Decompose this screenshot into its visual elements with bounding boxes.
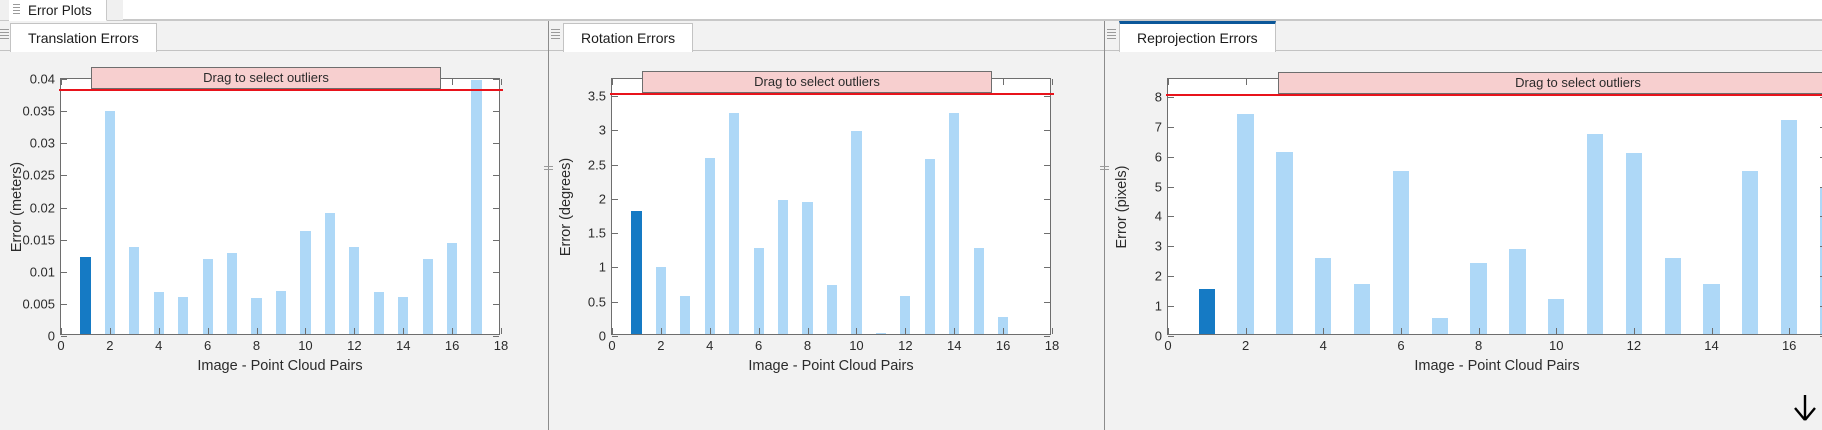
y-tick-right-rotation-3 (1044, 233, 1050, 234)
y-tick-label-translation-5: 0.025 (22, 168, 55, 183)
panel-divider-handle-3[interactable] (1100, 166, 1109, 172)
x-tick-rotation-0 (612, 328, 613, 334)
bar-reprojection-12[interactable] (1626, 153, 1642, 334)
outlier-drag-band-label-translation: Drag to select outliers (203, 70, 329, 85)
y-tick-label-translation-8: 0.04 (30, 72, 55, 87)
y-tick-label-rotation-5: 2.5 (588, 157, 606, 172)
bar-translation-3[interactable] (129, 247, 139, 334)
x-tick-label-rotation-6: 12 (898, 338, 912, 353)
x-tick-top-rotation-8 (1003, 79, 1004, 85)
bar-reprojection-1[interactable] (1199, 289, 1215, 334)
bar-rotation-6[interactable] (754, 248, 764, 334)
bar-reprojection-8[interactable] (1470, 263, 1486, 334)
x-tick-label-rotation-4: 8 (804, 338, 811, 353)
axes-translation: 00.0050.010.0150.020.0250.030.0350.04024… (60, 78, 500, 335)
x-tick-label-reprojection-3: 6 (1397, 338, 1404, 353)
bar-rotation-14[interactable] (949, 113, 959, 334)
y-tick-label-reprojection-8: 8 (1155, 89, 1162, 104)
axes-reprojection: 0123456780246810121416Image - Point Clou… (1167, 78, 1822, 335)
plots-container: Translation Errors 00.0050.010.0150.020.… (0, 21, 1822, 430)
x-tick-top-rotation-9 (1052, 79, 1053, 85)
bar-rotation-5[interactable] (729, 113, 739, 334)
panel-divider-handle-2[interactable] (544, 166, 553, 172)
bar-rotation-3[interactable] (680, 296, 690, 334)
outlier-threshold-line-rotation[interactable] (610, 93, 1054, 95)
plot-area-rotation: 00.511.522.533.5024681012141618Image - P… (611, 78, 1051, 335)
y-tick-rotation-1 (612, 302, 618, 303)
bar-rotation-7[interactable] (778, 200, 788, 334)
y-tick-label-translation-1: 0.005 (22, 296, 55, 311)
y-axis-title-reprojection: Error (pixels) (1114, 165, 1130, 248)
y-tick-right-rotation-2 (1044, 267, 1050, 268)
x-tick-rotation-7 (954, 328, 955, 334)
panel-grip-icon-2[interactable] (551, 29, 560, 42)
bar-reprojection-3[interactable] (1276, 152, 1292, 334)
x-tick-rotation-1 (661, 328, 662, 334)
x-tick-top-translation-9 (501, 79, 502, 85)
x-tick-label-translation-9: 18 (494, 338, 508, 353)
x-tick-label-rotation-9: 18 (1045, 338, 1059, 353)
bar-rotation-8[interactable] (802, 202, 812, 334)
y-tick-label-reprojection-0: 0 (1155, 329, 1162, 344)
bar-reprojection-15[interactable] (1742, 171, 1758, 334)
y-tick-label-translation-0: 0 (48, 329, 55, 344)
bar-translation-17[interactable] (471, 80, 481, 334)
x-tick-rotation-3 (759, 328, 760, 334)
y-tick-right-translation-1 (493, 304, 499, 305)
y-tick-right-rotation-7 (1044, 96, 1050, 97)
x-tick-reprojection-3 (1401, 328, 1402, 334)
x-axis-title-rotation: Image - Point Cloud Pairs (748, 358, 913, 374)
x-tick-translation-6 (354, 328, 355, 334)
x-tick-reprojection-6 (1634, 328, 1635, 334)
x-tick-reprojection-7 (1712, 328, 1713, 334)
y-tick-reprojection-1 (1168, 306, 1174, 307)
y-tick-label-rotation-1: 0.5 (588, 294, 606, 309)
x-tick-reprojection-0 (1168, 328, 1169, 334)
panel-rotation-errors: Rotation Errors 00.511.522.533.502468101… (549, 21, 1104, 430)
bar-rotation-1[interactable] (631, 211, 641, 334)
x-tick-rotation-2 (710, 328, 711, 334)
bar-translation-16[interactable] (447, 243, 457, 334)
bar-rotation-15[interactable] (974, 248, 984, 334)
resize-arrow-cursor (1792, 394, 1818, 424)
tab-reprojection-errors[interactable]: Reprojection Errors (1119, 21, 1276, 52)
x-tick-label-translation-1: 2 (106, 338, 113, 353)
y-tick-label-rotation-7: 3.5 (588, 89, 606, 104)
bar-translation-10[interactable] (300, 231, 310, 334)
x-axis-title-translation: Image - Point Cloud Pairs (197, 358, 362, 374)
bar-reprojection-2[interactable] (1237, 114, 1253, 334)
y-axis-title-rotation: Error (degrees) (558, 157, 574, 255)
bar-reprojection-6[interactable] (1393, 171, 1409, 334)
y-tick-label-translation-3: 0.015 (22, 232, 55, 247)
outlier-drag-band-rotation[interactable]: Drag to select outliers (642, 71, 992, 93)
x-tick-reprojection-1 (1246, 328, 1247, 334)
x-tick-label-reprojection-6: 12 (1627, 338, 1641, 353)
x-tick-label-translation-4: 8 (253, 338, 260, 353)
y-tick-rotation-6 (612, 130, 618, 131)
y-tick-reprojection-0 (1168, 336, 1174, 337)
bar-translation-7[interactable] (227, 253, 237, 334)
y-tick-rotation-5 (612, 165, 618, 166)
x-tick-label-reprojection-8: 16 (1782, 338, 1796, 353)
y-tick-translation-0 (61, 336, 67, 337)
y-tick-right-translation-5 (493, 175, 499, 176)
bar-translation-11[interactable] (325, 213, 335, 334)
y-tick-reprojection-4 (1168, 216, 1174, 217)
outlier-drag-band-label-reprojection: Drag to select outliers (1515, 75, 1641, 90)
y-tick-right-rotation-1 (1044, 302, 1050, 303)
y-tick-reprojection-7 (1168, 127, 1174, 128)
plot-area-translation: 00.0050.010.0150.020.0250.030.0350.04024… (60, 78, 500, 335)
bar-rotation-2[interactable] (656, 267, 666, 334)
x-tick-translation-2 (159, 328, 160, 334)
bar-translation-15[interactable] (423, 259, 433, 334)
bar-reprojection-4[interactable] (1315, 258, 1331, 334)
y-tick-right-translation-2 (493, 272, 499, 273)
x-tick-label-reprojection-5: 10 (1549, 338, 1563, 353)
x-tick-rotation-5 (856, 328, 857, 334)
bar-translation-6[interactable] (203, 259, 213, 334)
y-tick-translation-6 (61, 143, 67, 144)
x-tick-top-reprojection-1 (1246, 79, 1247, 85)
y-tick-translation-4 (61, 208, 67, 209)
bar-rotation-9[interactable] (827, 285, 837, 334)
y-tick-label-rotation-4: 2 (599, 191, 606, 206)
y-tick-right-translation-6 (493, 143, 499, 144)
y-tick-label-reprojection-2: 2 (1155, 269, 1162, 284)
bar-translation-5[interactable] (178, 297, 188, 334)
bar-translation-12[interactable] (349, 247, 359, 334)
y-tick-translation-5 (61, 175, 67, 176)
outlier-drag-band-reprojection[interactable]: Drag to select outliers (1278, 72, 1822, 94)
tab-error-plots-label: Error Plots (25, 3, 92, 18)
y-tick-label-rotation-0: 0 (599, 329, 606, 344)
y-tick-right-rotation-5 (1044, 165, 1050, 166)
y-tick-label-reprojection-3: 3 (1155, 239, 1162, 254)
y-tick-label-reprojection-1: 1 (1155, 299, 1162, 314)
y-tick-translation-2 (61, 272, 67, 273)
bar-translation-9[interactable] (276, 291, 286, 334)
x-tick-label-reprojection-0: 0 (1164, 338, 1171, 353)
tab-translation-errors[interactable]: Translation Errors (10, 23, 157, 52)
x-tick-reprojection-8 (1789, 328, 1790, 334)
x-tick-label-translation-8: 16 (445, 338, 459, 353)
plot-area-reprojection: 0123456780246810121416Image - Point Clou… (1167, 78, 1822, 335)
outlier-threshold-line-translation[interactable] (59, 89, 503, 91)
bar-reprojection-7[interactable] (1432, 318, 1448, 334)
x-tick-label-reprojection-2: 4 (1320, 338, 1327, 353)
x-tick-label-translation-7: 14 (396, 338, 410, 353)
y-tick-rotation-0 (612, 336, 618, 337)
y-tick-right-translation-4 (493, 208, 499, 209)
y-tick-label-reprojection-4: 4 (1155, 209, 1162, 224)
y-tick-rotation-7 (612, 96, 618, 97)
x-tick-label-translation-0: 0 (57, 338, 64, 353)
y-tick-right-rotation-0 (1044, 336, 1050, 337)
panel-translation-errors: Translation Errors 00.0050.010.0150.020.… (0, 21, 548, 430)
tab-error-plots[interactable]: Error Plots (9, 0, 107, 21)
outlier-drag-band-translation[interactable]: Drag to select outliers (91, 67, 441, 89)
bar-translation-13[interactable] (374, 292, 384, 334)
tab-rotation-errors[interactable]: Rotation Errors (563, 23, 693, 52)
y-tick-label-rotation-6: 3 (599, 123, 606, 138)
x-tick-translation-1 (110, 328, 111, 334)
x-tick-top-translation-0 (61, 79, 62, 85)
y-tick-label-reprojection-5: 5 (1155, 179, 1162, 194)
x-tick-top-reprojection-0 (1168, 79, 1169, 85)
bar-reprojection-16[interactable] (1781, 120, 1797, 334)
x-tick-translation-4 (257, 328, 258, 334)
x-tick-label-rotation-3: 6 (755, 338, 762, 353)
bar-rotation-13[interactable] (925, 159, 935, 334)
x-tick-label-rotation-0: 0 (608, 338, 615, 353)
bar-rotation-10[interactable] (851, 131, 861, 334)
y-tick-reprojection-3 (1168, 246, 1174, 247)
x-tick-translation-5 (305, 328, 306, 334)
y-tick-label-reprojection-7: 7 (1155, 119, 1162, 134)
tab-reprojection-errors-label: Reprojection Errors (1137, 30, 1258, 46)
x-tick-label-translation-6: 12 (347, 338, 361, 353)
y-tick-label-translation-2: 0.01 (30, 264, 55, 279)
bar-translation-1[interactable] (80, 257, 90, 334)
y-tick-label-rotation-3: 1.5 (588, 226, 606, 241)
outlier-threshold-line-reprojection[interactable] (1166, 94, 1822, 96)
y-tick-reprojection-8 (1168, 97, 1174, 98)
x-axis-title-reprojection: Image - Point Cloud Pairs (1414, 358, 1579, 374)
x-tick-translation-3 (208, 328, 209, 334)
x-tick-reprojection-5 (1556, 328, 1557, 334)
x-tick-translation-9 (501, 328, 502, 334)
y-axis-title-translation: Error (meters) (9, 161, 25, 251)
bar-reprojection-5[interactable] (1354, 284, 1370, 334)
x-tick-label-reprojection-4: 8 (1475, 338, 1482, 353)
y-tick-rotation-4 (612, 199, 618, 200)
tab-translation-errors-label: Translation Errors (28, 30, 139, 46)
y-tick-label-translation-7: 0.035 (22, 104, 55, 119)
y-tick-right-rotation-4 (1044, 199, 1050, 200)
bar-rotation-11[interactable] (876, 333, 886, 334)
y-tick-right-translation-3 (493, 240, 499, 241)
x-tick-translation-7 (403, 328, 404, 334)
panel-grip-icon-1[interactable] (0, 29, 9, 42)
y-tick-label-rotation-2: 1 (599, 260, 606, 275)
y-tick-right-translation-8 (493, 79, 499, 80)
bar-reprojection-9[interactable] (1509, 249, 1525, 334)
y-tick-translation-3 (61, 240, 67, 241)
y-tick-translation-1 (61, 304, 67, 305)
x-tick-rotation-4 (808, 328, 809, 334)
x-tick-label-rotation-8: 16 (996, 338, 1010, 353)
x-tick-top-rotation-0 (612, 79, 613, 85)
x-tick-label-reprojection-7: 14 (1704, 338, 1718, 353)
x-tick-label-translation-2: 4 (155, 338, 162, 353)
x-tick-translation-8 (452, 328, 453, 334)
outer-tab-strip: Error Plots (0, 0, 1822, 21)
bar-reprojection-11[interactable] (1587, 134, 1603, 334)
bar-reprojection-13[interactable] (1665, 258, 1681, 334)
y-tick-label-translation-4: 0.02 (30, 200, 55, 215)
axes-rotation: 00.511.522.533.5024681012141618Image - P… (611, 78, 1051, 335)
panel-grip-icon-3[interactable] (1107, 29, 1116, 42)
drag-grip-icon[interactable] (13, 4, 20, 17)
y-tick-reprojection-5 (1168, 187, 1174, 188)
y-tick-label-translation-6: 0.03 (30, 136, 55, 151)
x-tick-translation-0 (61, 328, 62, 334)
x-tick-top-translation-8 (452, 79, 453, 85)
tab-rotation-errors-label: Rotation Errors (581, 30, 675, 46)
y-tick-rotation-3 (612, 233, 618, 234)
y-tick-label-reprojection-6: 6 (1155, 149, 1162, 164)
panel-reprojection-errors: Reprojection Errors 01234567802468101214… (1105, 21, 1822, 430)
x-tick-reprojection-2 (1323, 328, 1324, 334)
bar-rotation-4[interactable] (705, 158, 715, 334)
x-tick-label-rotation-2: 4 (706, 338, 713, 353)
y-tick-reprojection-6 (1168, 157, 1174, 158)
bar-translation-2[interactable] (105, 111, 115, 334)
x-tick-label-rotation-5: 10 (849, 338, 863, 353)
x-tick-label-translation-5: 10 (298, 338, 312, 353)
y-tick-reprojection-2 (1168, 276, 1174, 277)
outlier-drag-band-label-rotation: Drag to select outliers (754, 74, 880, 89)
x-tick-label-rotation-7: 14 (947, 338, 961, 353)
x-tick-rotation-6 (905, 328, 906, 334)
bar-reprojection-14[interactable] (1703, 284, 1719, 334)
x-tick-label-reprojection-1: 2 (1242, 338, 1249, 353)
x-tick-rotation-8 (1003, 328, 1004, 334)
y-tick-rotation-2 (612, 267, 618, 268)
y-tick-right-rotation-6 (1044, 130, 1050, 131)
outer-tab-strip-filler (123, 0, 1822, 20)
y-tick-right-translation-0 (493, 336, 499, 337)
y-tick-right-translation-7 (493, 111, 499, 112)
x-tick-reprojection-4 (1479, 328, 1480, 334)
x-tick-label-translation-3: 6 (204, 338, 211, 353)
y-tick-translation-7 (61, 111, 67, 112)
x-tick-label-rotation-1: 2 (657, 338, 664, 353)
x-tick-rotation-9 (1052, 328, 1053, 334)
